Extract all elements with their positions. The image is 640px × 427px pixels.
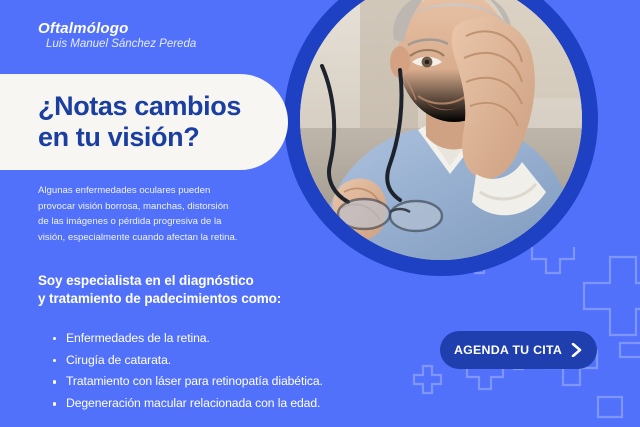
service-label: Enfermedades de la retina.: [66, 331, 210, 345]
service-list: Enfermedades de la retina. Cirugía de ca…: [46, 328, 323, 415]
list-item: Tratamiento con láser para retinopatía d…: [66, 371, 323, 393]
headline-text: ¿Notas cambios en tu visión?: [38, 91, 241, 153]
doctor-name: Luis Manuel Sánchez Pereda: [46, 38, 196, 52]
doctor-identity-block: Oftalmólogo Luis Manuel Sánchez Pereda: [38, 20, 196, 52]
list-item: Cirugía de catarata.: [66, 350, 323, 372]
headline-speech-bubble: ¿Notas cambios en tu visión?: [0, 74, 288, 170]
cta-label: AGENDA TU CITA: [454, 343, 562, 357]
ophthalmology-ad-poster: Oftalmólogo Luis Manuel Sánchez Pereda ¿…: [0, 0, 640, 427]
service-label: Cirugía de catarata.: [66, 353, 171, 367]
service-label: Tratamiento con láser para retinopatía d…: [66, 374, 323, 388]
bullet-dot-icon: [53, 359, 56, 362]
bullet-dot-icon: [53, 402, 56, 405]
bullet-dot-icon: [53, 337, 56, 340]
bullet-dot-icon: [53, 380, 56, 383]
specialty-heading: Soy especialista en el diagnóstico y tra…: [38, 272, 281, 308]
list-item: Degeneración macular relacionada con la …: [66, 393, 323, 415]
service-label: Degeneración macular relacionada con la …: [66, 396, 320, 410]
intro-paragraph: Algunas enfermedades oculares pueden pro…: [38, 183, 290, 245]
list-item: Enfermedades de la retina.: [66, 328, 323, 350]
chevron-right-icon: [571, 343, 583, 357]
schedule-appointment-button[interactable]: AGENDA TU CITA: [440, 331, 597, 369]
doctor-role: Oftalmólogo: [38, 20, 196, 37]
